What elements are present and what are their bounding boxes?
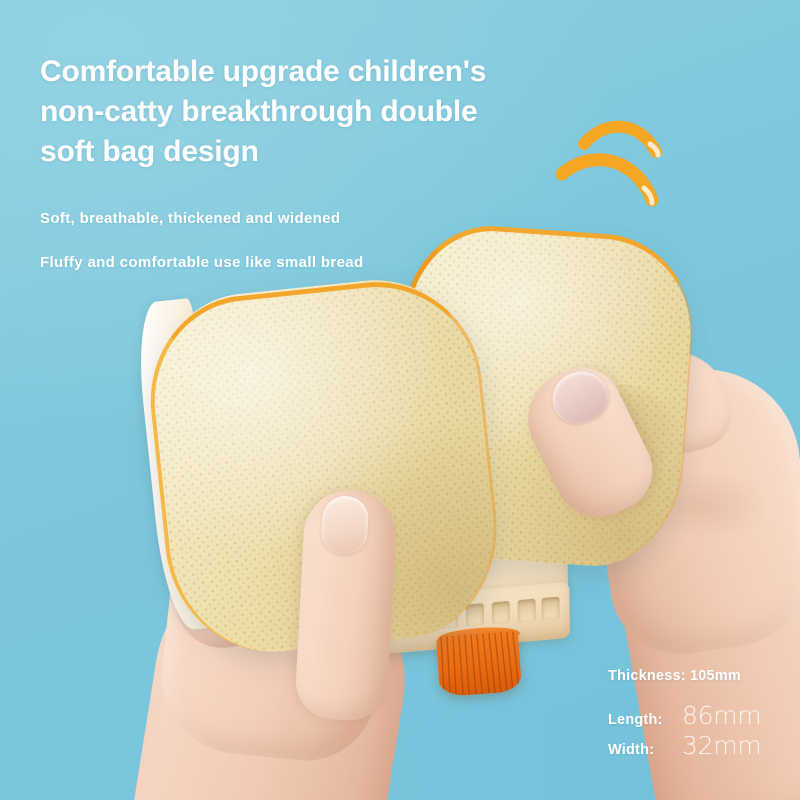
spec-thickness: Thickness: 105mm [608, 668, 798, 684]
spec-width-label: Width: [608, 742, 682, 758]
subtitle-line-2: Fluffy and comfortable use like small br… [40, 254, 363, 271]
spec-length-label: Length: [608, 712, 682, 728]
spec-row-length: Length: 86mm [608, 702, 798, 730]
headline-line-2: non-catty breakthrough double [40, 92, 600, 132]
knob-ribs-icon [436, 631, 522, 697]
base-slot [542, 597, 560, 621]
headline-line-1: Comfortable upgrade children's [40, 52, 600, 92]
left-thumbnail [320, 494, 370, 555]
promo-banner: Tenwin Astronomy Comfortable upgrade chi… [0, 0, 800, 800]
headline-line-3: soft bag design [40, 132, 600, 172]
subtitle-line-1: Soft, breathable, thickened and widened [40, 210, 340, 227]
orange-ribbed-knob [436, 631, 522, 697]
signal-arcs-icon [556, 108, 686, 218]
base-slot [518, 599, 536, 623]
spec-width-value: 32mm [682, 732, 761, 760]
spec-block: Thickness: 105mm Length: 86mm Width: 32m… [608, 668, 798, 760]
headline: Comfortable upgrade children's non-catty… [40, 52, 600, 172]
spec-row-width: Width: 32mm [608, 732, 798, 760]
spec-length-value: 86mm [682, 702, 761, 730]
